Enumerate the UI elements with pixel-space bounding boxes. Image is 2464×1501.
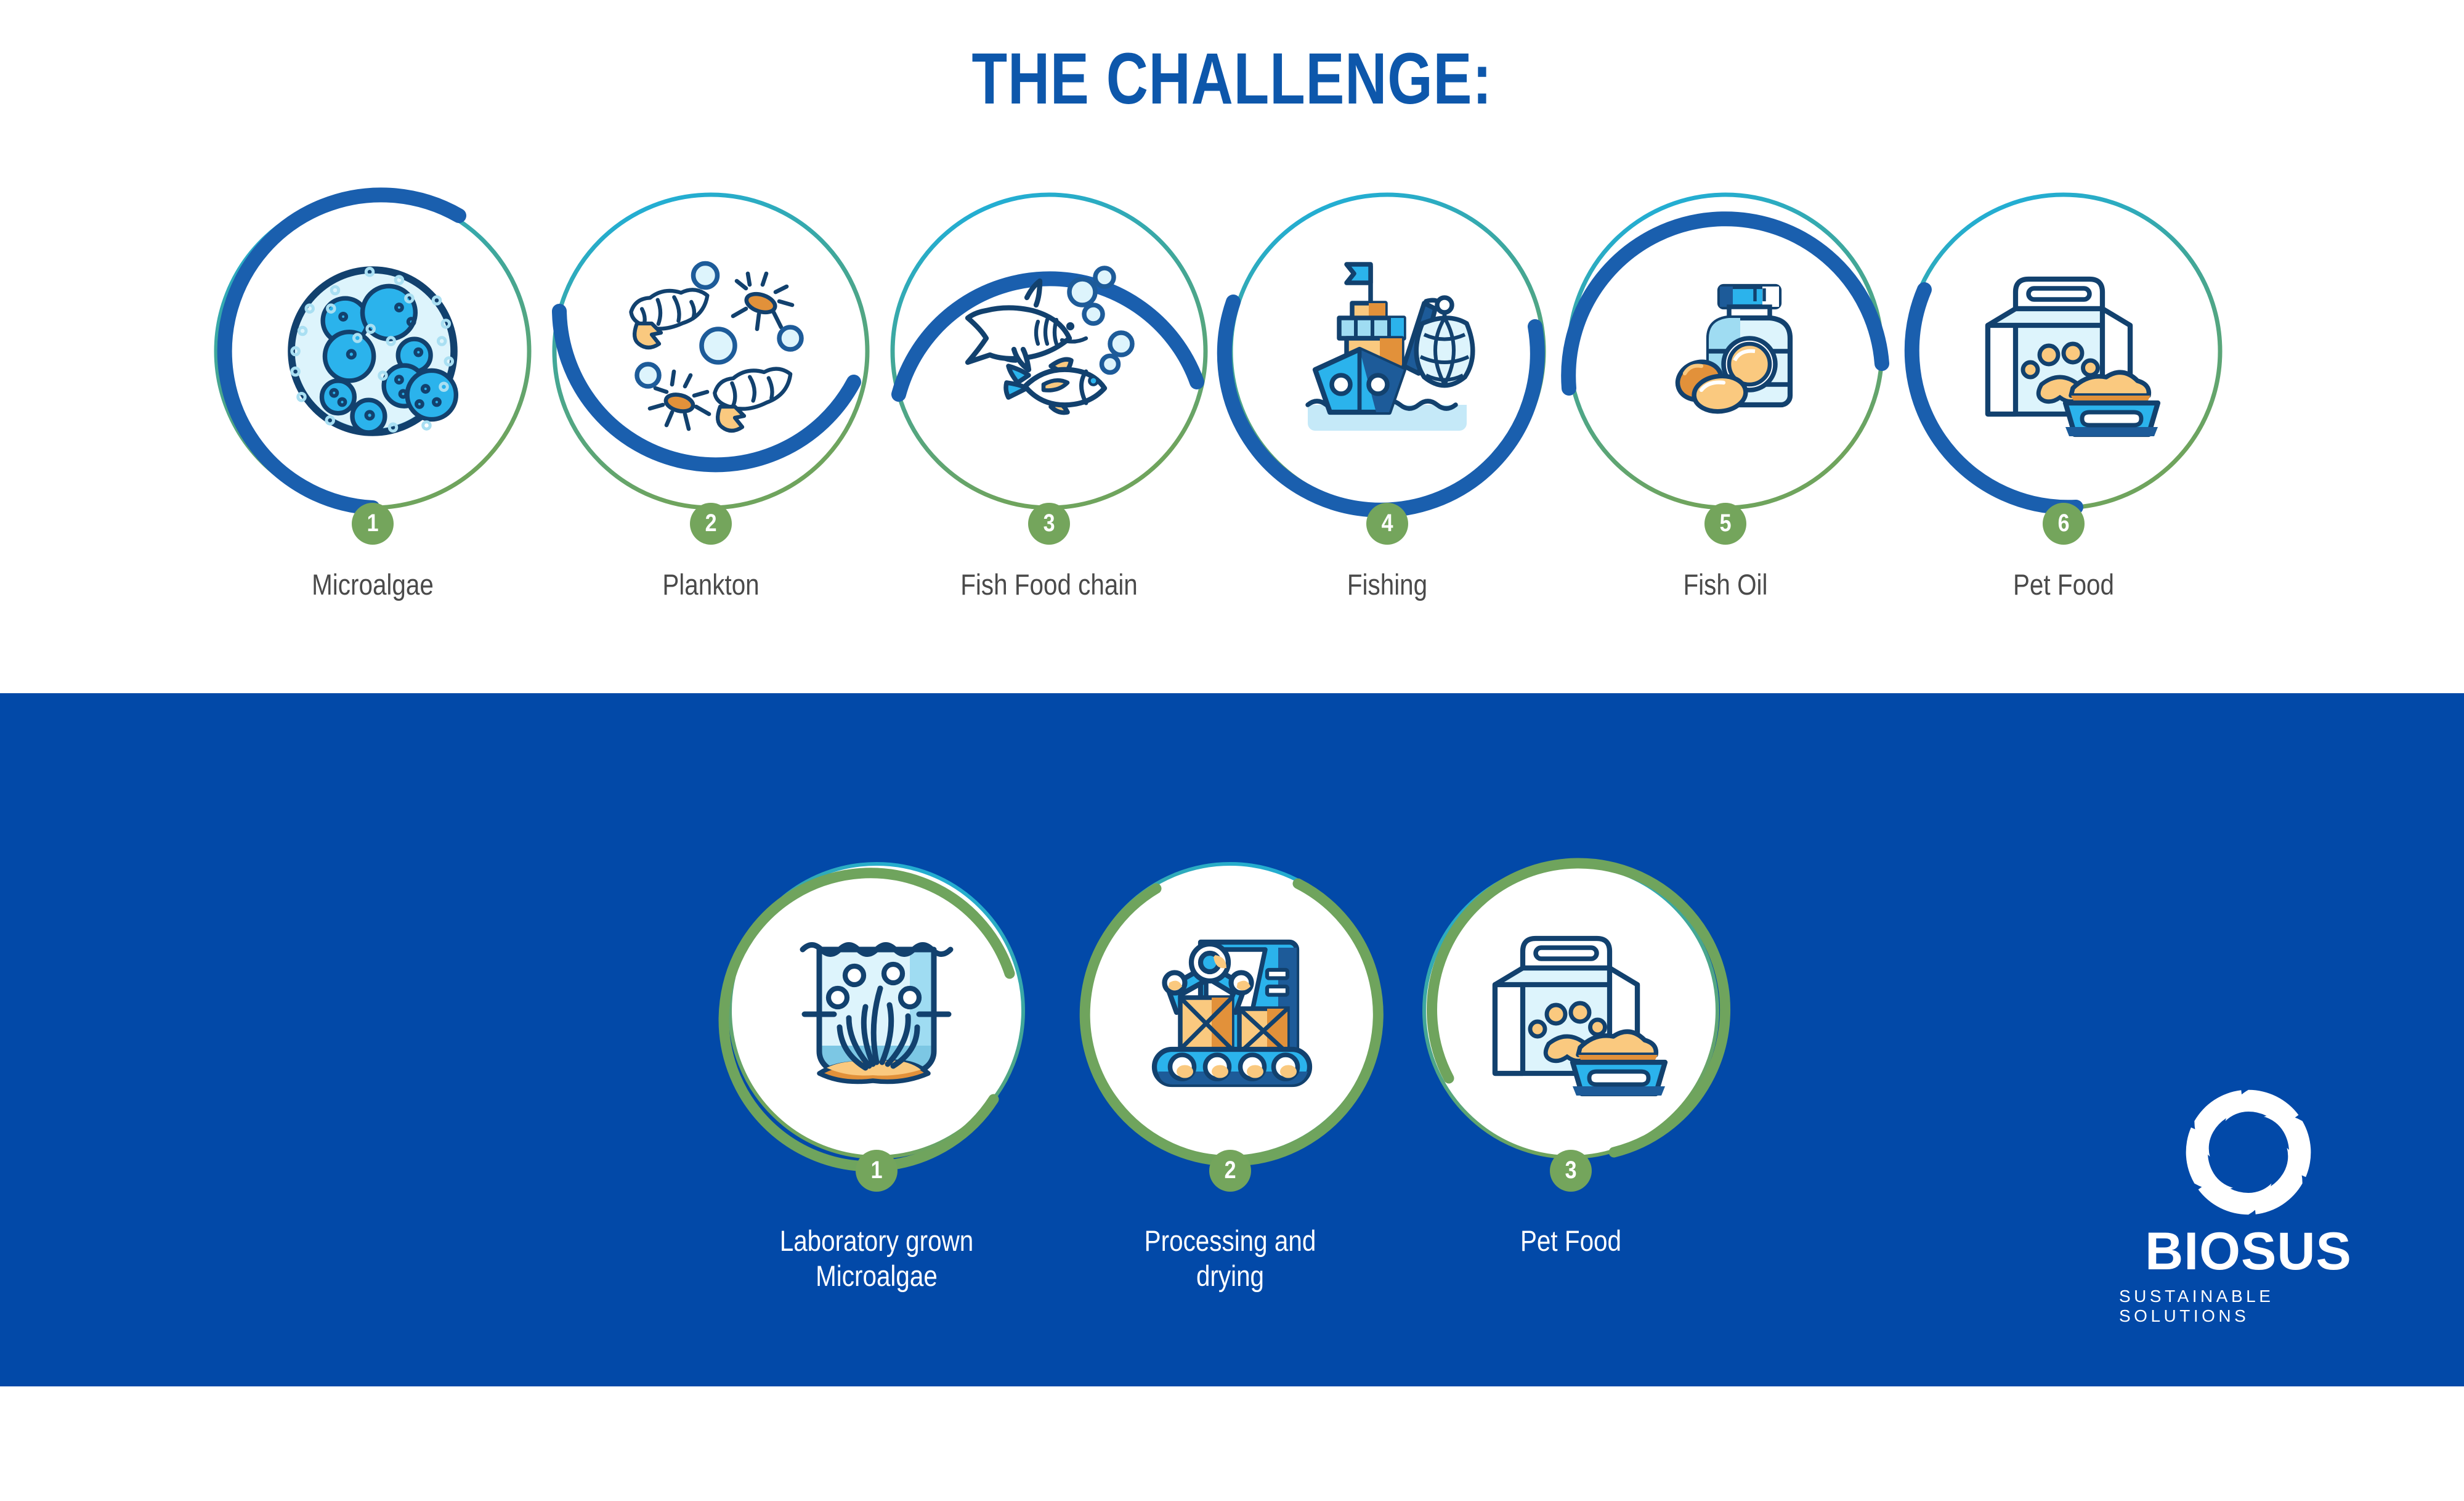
fishing-boat-net-icon: [1286, 250, 1489, 453]
solution-title: OUR SOLUTION:: [246, 1417, 2218, 1501]
brand-name: BIOSUS: [2145, 1225, 2352, 1278]
challenge-label-2: Plankton: [562, 567, 859, 602]
challenge-label-5: Fish Oil: [1577, 567, 1874, 602]
robotic-arm-conveyor-icon: [1129, 909, 1332, 1112]
solution-step-3[interactable]: 3: [1411, 850, 1731, 1171]
pet-food-bag-bowl-icon: [1469, 909, 1672, 1112]
challenge-label-4: Fishing: [1239, 567, 1536, 602]
microalgae-petri-dish-icon: [271, 250, 474, 453]
algae-tank-icon: [775, 909, 978, 1112]
challenge-label-3: Fish Food chain: [901, 567, 1198, 602]
step-badge-1: 1: [352, 503, 394, 545]
solution-badge-3: 3: [1550, 1150, 1592, 1192]
challenge-label-1: Microalgae: [224, 567, 521, 602]
shark-and-fish-icon: [947, 250, 1151, 453]
solution-step-1[interactable]: 1: [716, 850, 1037, 1171]
solution-step-2[interactable]: 2: [1070, 850, 1390, 1171]
supplement-bottle-capsules-icon: [1624, 250, 1827, 453]
infographic-canvas: THE CHALLENGE: OUR SOLUTION:: [0, 0, 2464, 1386]
challenge-step-5[interactable]: 5: [1553, 179, 1898, 524]
solution-badge-1: 1: [856, 1150, 898, 1192]
brand-logo: BIOSUS SUSTAINABLE SOLUTIONS: [2119, 1084, 2378, 1331]
solution-badge-2: 2: [1209, 1150, 1251, 1192]
challenge-step-4[interactable]: 4: [1215, 179, 1560, 524]
challenge-label-6: Pet Food: [1915, 567, 2212, 602]
step-badge-5: 5: [1704, 503, 1746, 545]
step-badge-2: 2: [690, 503, 732, 545]
challenge-step-3[interactable]: 3: [877, 179, 1222, 524]
solution-label-3: Pet Food: [1433, 1223, 1708, 1258]
brand-tagline: SUSTAINABLE SOLUTIONS: [2119, 1287, 2378, 1326]
challenge-title: THE CHALLENGE:: [246, 37, 2218, 121]
step-badge-3: 3: [1028, 503, 1070, 545]
step-badge-4: 4: [1366, 503, 1408, 545]
challenge-step-2[interactable]: 2: [538, 179, 883, 524]
swirl-pinwheel-logo-icon: [2181, 1084, 2316, 1220]
pet-food-bag-bowl-icon: [1962, 250, 2165, 453]
plankton-krill-icon: [609, 250, 813, 453]
challenge-step-6[interactable]: 6: [1891, 179, 2236, 524]
solution-label-1: Laboratory grown Microalgae: [739, 1223, 1014, 1294]
solution-label-2: Processing and drying: [1092, 1223, 1368, 1294]
challenge-step-1[interactable]: 1: [200, 179, 545, 524]
step-badge-6: 6: [2043, 503, 2085, 545]
